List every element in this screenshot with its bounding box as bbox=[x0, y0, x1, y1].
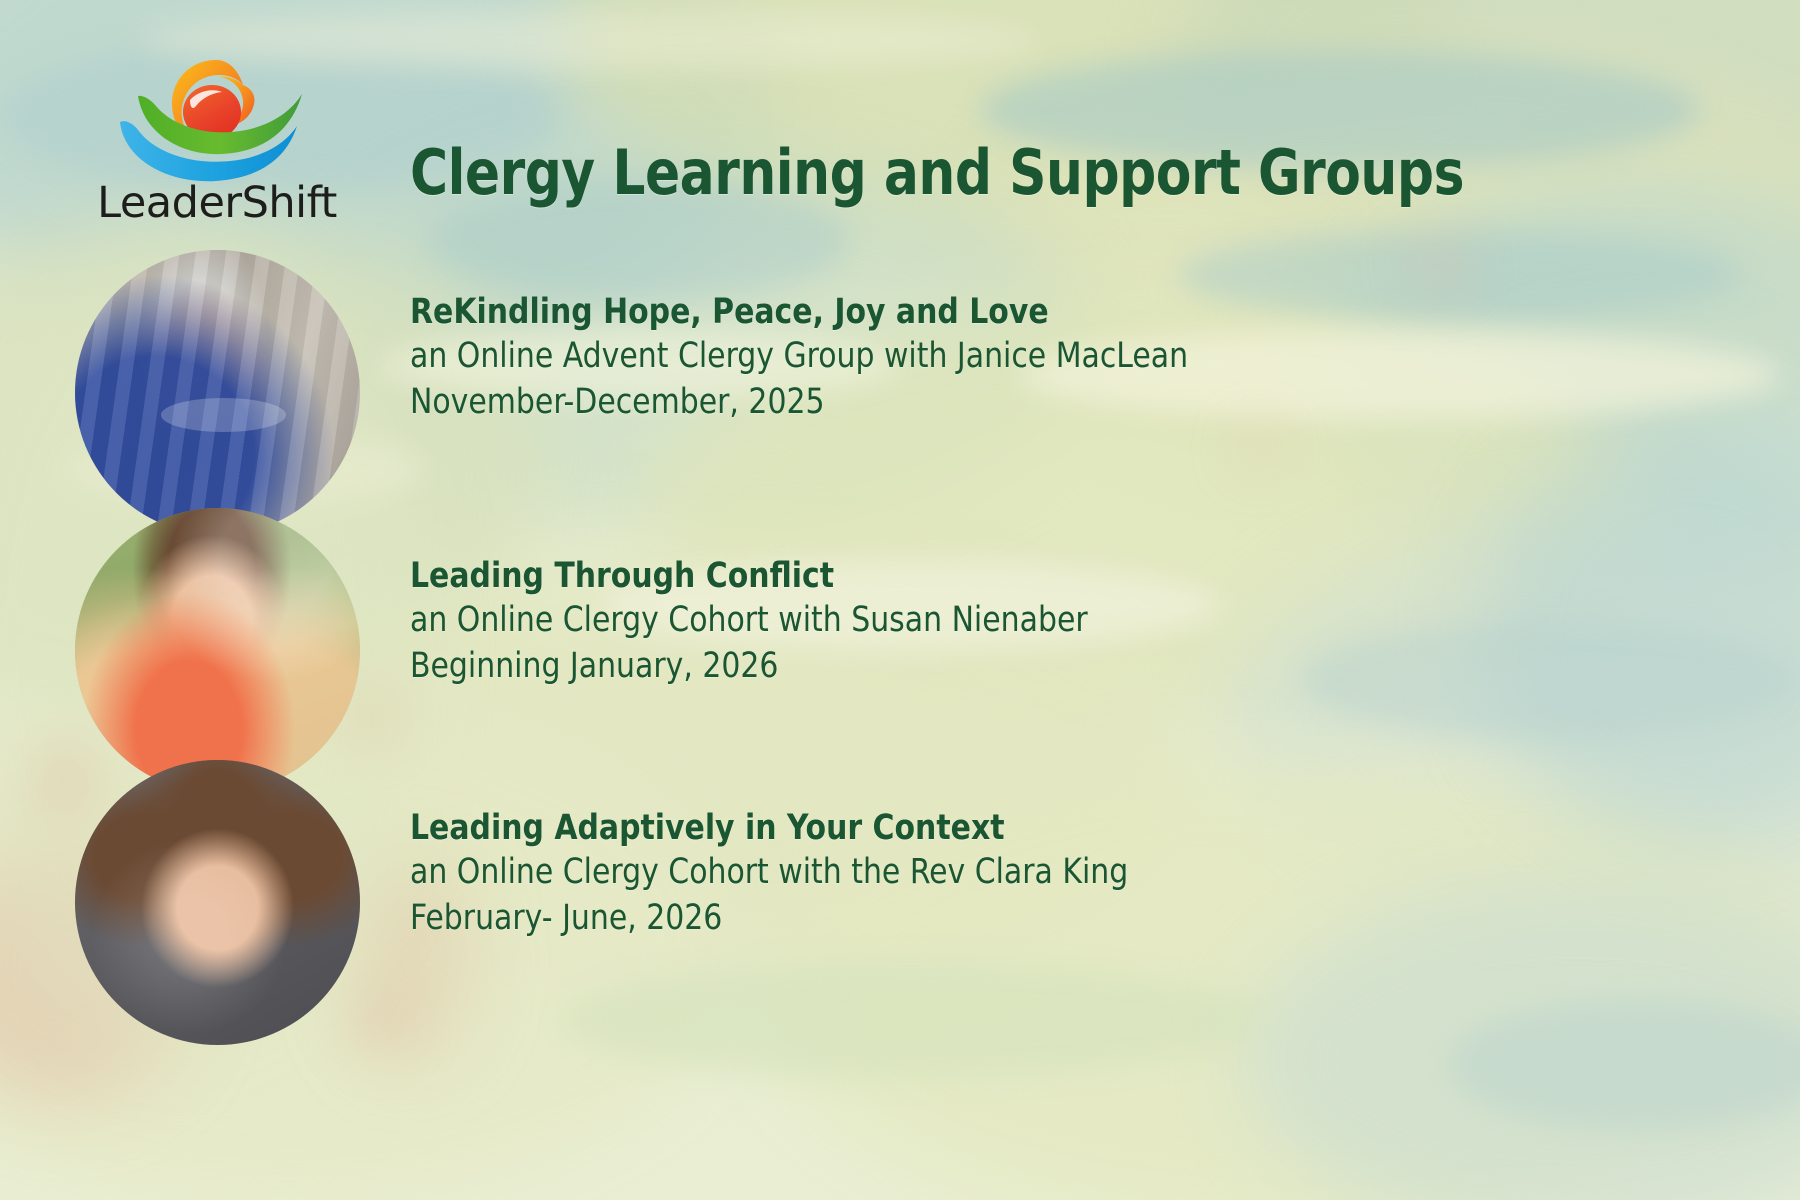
program-description: an Online Clergy Cohort with Susan Niena… bbox=[410, 597, 1088, 643]
page-title: Clergy Learning and Support Groups bbox=[410, 136, 1464, 209]
program-description: an Online Clergy Cohort with the Rev Cla… bbox=[410, 849, 1128, 895]
avatar-janice-maclean bbox=[75, 250, 360, 535]
program-copy: Leading Through Conflict an Online Clerg… bbox=[410, 556, 1123, 690]
program-dates: February- June, 2026 bbox=[410, 895, 1128, 941]
program-description: an Online Advent Clergy Group with Janic… bbox=[410, 333, 1188, 379]
program-dates: Beginning January, 2026 bbox=[410, 643, 1088, 689]
program-dates: November-December, 2025 bbox=[410, 379, 1188, 425]
leadershift-swirl-icon bbox=[86, 48, 348, 188]
avatar-clara-king bbox=[75, 760, 360, 1045]
program-title: ReKindling Hope, Peace, Joy and Love bbox=[410, 292, 1188, 333]
program-title: Leading Through Conflict bbox=[410, 556, 1088, 597]
avatar-susan-nienaber bbox=[75, 508, 360, 793]
program-copy: ReKindling Hope, Peace, Joy and Love an … bbox=[410, 292, 1229, 426]
program-copy: Leading Adaptively in Your Context an On… bbox=[410, 808, 1166, 942]
brand-wordmark: LeaderShift bbox=[86, 182, 348, 225]
brand-logo: LeaderShift bbox=[86, 48, 348, 248]
program-title: Leading Adaptively in Your Context bbox=[410, 808, 1128, 849]
poster-canvas: LeaderShift Clergy Learning and Support … bbox=[0, 0, 1800, 1200]
